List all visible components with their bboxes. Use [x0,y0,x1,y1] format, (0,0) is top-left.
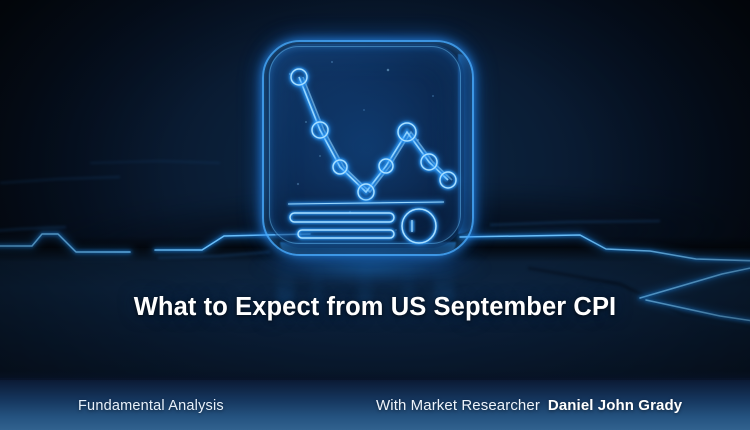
researcher-name: Daniel John Grady [548,397,682,414]
category-label: Fundamental Analysis [78,398,224,414]
page-title: What to Expect from US September CPI [0,293,750,322]
progress-bar-upper-graphic [290,213,394,222]
byline: With Market ResearcherDaniel John Grady [376,397,682,414]
progress-bar-lower-graphic [298,230,394,238]
hero-banner: What to Expect from US September CPI Fun… [0,0,750,430]
line-chart-graphic [262,40,470,252]
circular-gauge-graphic [402,209,436,243]
byline-prefix: With Market Researcher [376,397,540,414]
analytics-card-3d-icon [262,40,470,252]
divider-line-graphic [288,202,444,204]
